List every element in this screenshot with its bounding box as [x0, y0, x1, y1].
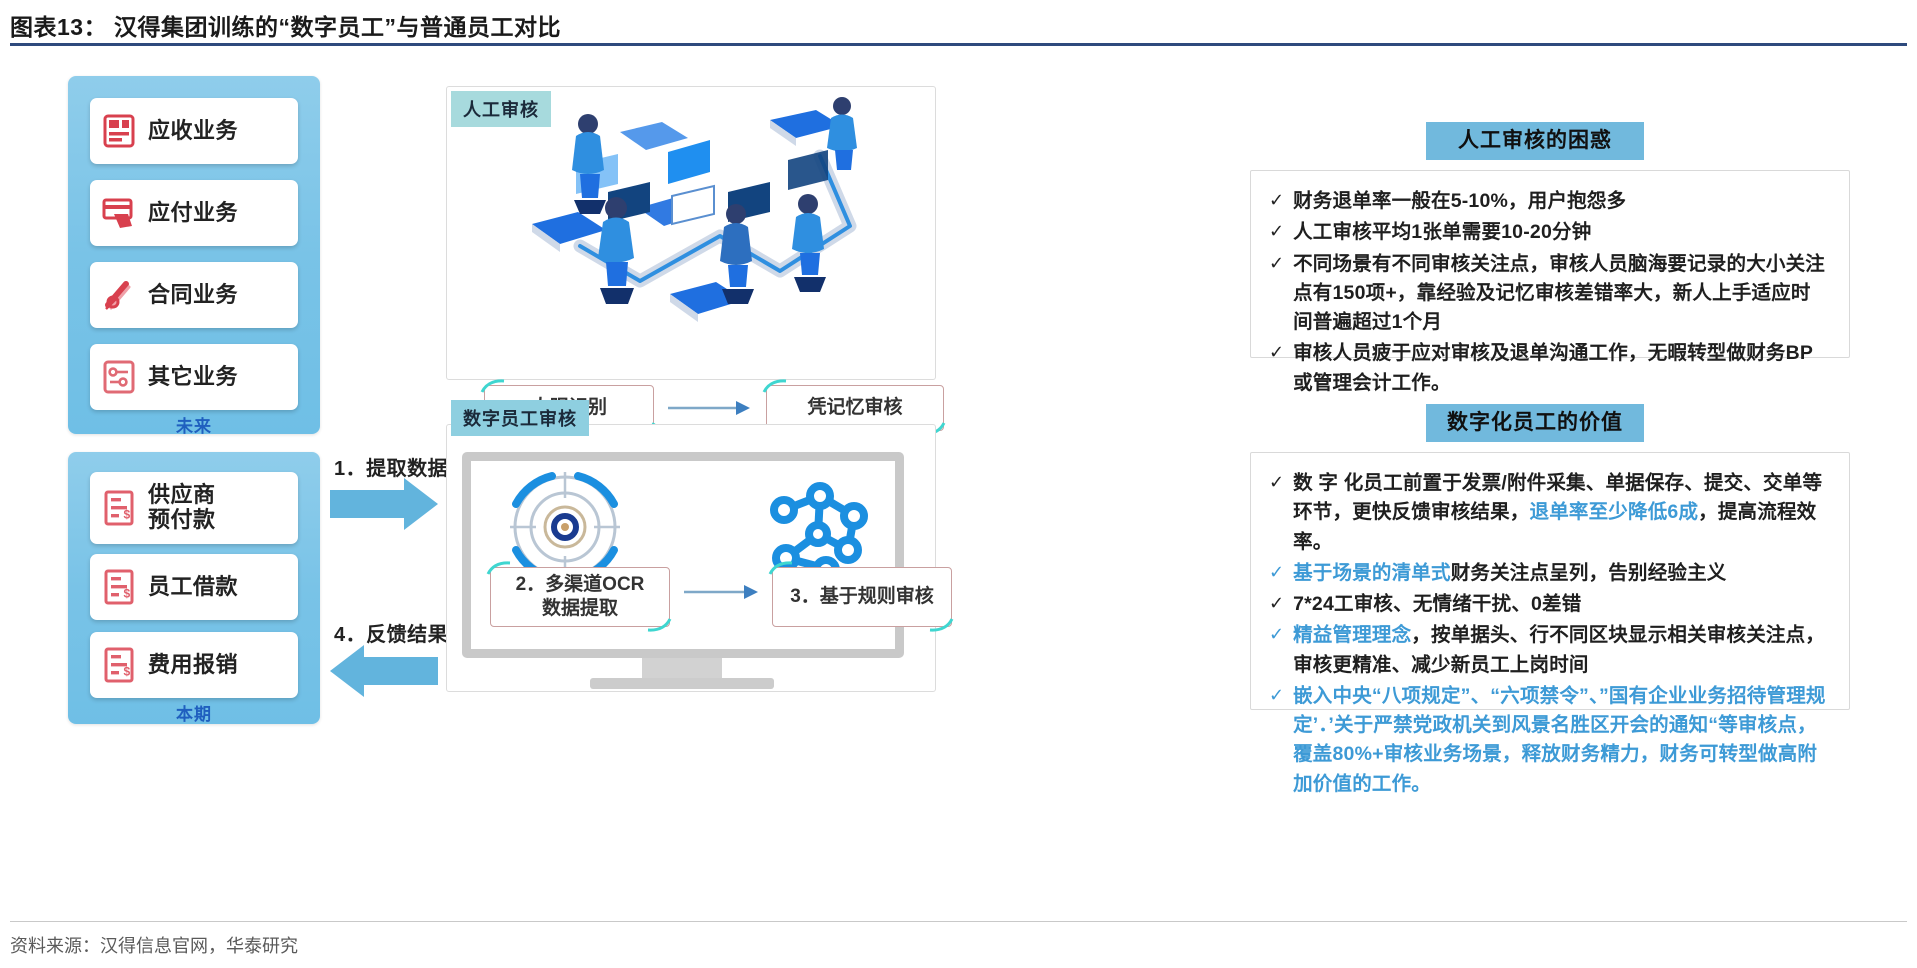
digital-value-title: 数字化员工的价值: [1426, 404, 1644, 442]
digital-step-3: 3．基于规则审核: [772, 567, 952, 627]
digital-review-tag: 数字员工审核: [451, 400, 589, 436]
bullet-text: 基于场景的清单式财务关注点呈列，告别经验主义: [1293, 559, 1726, 588]
bullet-text: 人工审核平均1张单需要10-20分钟: [1293, 218, 1591, 247]
bullet-text: 财务退单率一般在5-10%，用户抱怨多: [1293, 187, 1626, 216]
isometric-office-illustration: [520, 96, 920, 326]
bullet-text: 嵌入中央“八项规定”、“六项禁令”、”国有企业业务招待管理规定’．’关于严禁党政…: [1293, 682, 1829, 799]
digital-step-2-line1: 2．多渠道OCR: [516, 573, 645, 597]
future-business-panel: 应收业务 应付业务 合同业务: [68, 76, 320, 434]
check-icon: ✓: [1269, 250, 1284, 338]
bullet-text: 审核人员疲于应对审核及退单沟通工作，无暇转型做财务BP或管理会计工作。: [1293, 339, 1829, 398]
invoice-money-icon: $: [102, 490, 136, 526]
bullet-text: 精益管理理念，按单据头、行不同区块显示相关审核关注点，审核更精准、减少新员工上岗…: [1293, 621, 1829, 680]
check-icon: ✓: [1269, 218, 1284, 247]
figure-header: 图表13： 汉得集团训练的“数字员工”与普通员工对比: [10, 8, 1907, 42]
biz-card-label: 员工借款: [148, 575, 238, 600]
digital-step-3-label: 3．基于规则审核: [790, 585, 934, 609]
arrow-label-extract: 1．提取数据: [334, 452, 448, 481]
check-icon: ✓: [1269, 187, 1284, 216]
footer-rule: [10, 921, 1907, 922]
biz-card-other[interactable]: 其它业务: [90, 344, 298, 410]
future-panel-tag: 未来: [68, 412, 320, 437]
bullet-item: ✓基于场景的清单式财务关注点呈列，告别经验主义: [1269, 559, 1829, 588]
bullet-item: ✓7*24工审核、无情绪干扰、0差错: [1269, 590, 1829, 619]
biz-card-employee-loan[interactable]: $ 员工借款: [90, 554, 298, 620]
contract-scroll-icon: [102, 277, 136, 313]
other-list-icon: [102, 359, 136, 395]
digital-step-2: 2．多渠道OCR 数据提取: [490, 567, 670, 627]
bullet-item: ✓嵌入中央“八项规定”、“六项禁令”、”国有企业业务招待管理规定’．’关于严禁党…: [1269, 682, 1829, 799]
biz-card-label: 供应商 预付款: [148, 483, 216, 532]
page-title: 图表13： 汉得集团训练的“数字员工”与普通员工对比: [10, 8, 1907, 42]
invoice-money-icon: $: [102, 569, 136, 605]
svg-text:$: $: [124, 665, 131, 679]
current-business-panel: $ 供应商 预付款 $ 员工借款: [68, 452, 320, 724]
receivable-doc-icon: [102, 113, 136, 149]
bullet-text: 不同场景有不同审核关注点，审核人员脑海要记录的大小关注点有150项+，靠经验及记…: [1293, 250, 1829, 338]
extract-arrow-icon: [330, 478, 440, 530]
biz-card-supplier-prepay[interactable]: $ 供应商 预付款: [90, 472, 298, 544]
biz-card-label: 合同业务: [148, 283, 238, 308]
source-note: 资料来源：汉得信息官网，华泰研究: [10, 932, 298, 958]
bullet-item: ✓财务退单率一般在5-10%，用户抱怨多: [1269, 187, 1829, 216]
digital-step-2-line2: 数据提取: [542, 597, 618, 621]
feedback-arrow-icon: [330, 645, 440, 697]
biz-card-payable[interactable]: 应付业务: [90, 180, 298, 246]
check-icon: ✓: [1269, 682, 1284, 799]
digital-flow-arrow-icon: [684, 582, 760, 602]
bullet-text: 7*24工审核、无情绪干扰、0差错: [1293, 590, 1581, 619]
bullet-item: ✓审核人员疲于应对审核及退单沟通工作，无暇转型做财务BP或管理会计工作。: [1269, 339, 1829, 398]
biz-card-label: 应付业务: [148, 201, 238, 226]
biz-card-label: 费用报销: [148, 653, 238, 678]
biz-card-receivable[interactable]: 应收业务: [90, 98, 298, 164]
digital-value-card: ✓数 字 化员工前置于发票/附件采集、单据保存、提交、交单等环节，更快反馈审核结…: [1250, 452, 1850, 710]
biz-card-contract[interactable]: 合同业务: [90, 262, 298, 328]
figure-page: 图表13： 汉得集团训练的“数字员工”与普通员工对比 应收业务: [0, 0, 1917, 968]
header-rule: [10, 43, 1907, 46]
bullet-item: ✓精益管理理念，按单据头、行不同区块显示相关审核关注点，审核更精准、减少新员工上…: [1269, 621, 1829, 680]
current-panel-tag: 本期: [68, 700, 320, 725]
check-icon: ✓: [1269, 469, 1284, 557]
payable-card-icon: [102, 195, 136, 231]
bullet-item: ✓人工审核平均1张单需要10-20分钟: [1269, 218, 1829, 247]
monitor-neck: [642, 658, 722, 680]
svg-text:$: $: [124, 508, 131, 522]
check-icon: ✓: [1269, 559, 1284, 588]
bullet-item: ✓数 字 化员工前置于发票/附件采集、单据保存、提交、交单等环节，更快反馈审核结…: [1269, 469, 1829, 557]
check-icon: ✓: [1269, 590, 1284, 619]
manual-confusion-card: ✓财务退单率一般在5-10%，用户抱怨多✓人工审核平均1张单需要10-20分钟✓…: [1250, 170, 1850, 358]
invoice-money-icon: $: [102, 647, 136, 683]
bullet-text: 数 字 化员工前置于发票/附件采集、单据保存、提交、交单等环节，更快反馈审核结果…: [1293, 469, 1829, 557]
arrow-label-feedback: 4．反馈结果: [334, 618, 448, 647]
bullet-item: ✓不同场景有不同审核关注点，审核人员脑海要记录的大小关注点有150项+，靠经验及…: [1269, 250, 1829, 338]
manual-flow-arrow-icon: [668, 398, 752, 418]
check-icon: ✓: [1269, 339, 1284, 398]
svg-text:$: $: [124, 587, 131, 601]
biz-card-expense-claim[interactable]: $ 费用报销: [90, 632, 298, 698]
biz-card-label: 应收业务: [148, 119, 238, 144]
check-icon: ✓: [1269, 621, 1284, 680]
biz-card-label: 其它业务: [148, 365, 238, 390]
manual-confusion-title: 人工审核的困惑: [1426, 122, 1644, 160]
manual-step-2-label: 凭记忆审核: [807, 396, 902, 420]
monitor-base: [590, 678, 774, 689]
